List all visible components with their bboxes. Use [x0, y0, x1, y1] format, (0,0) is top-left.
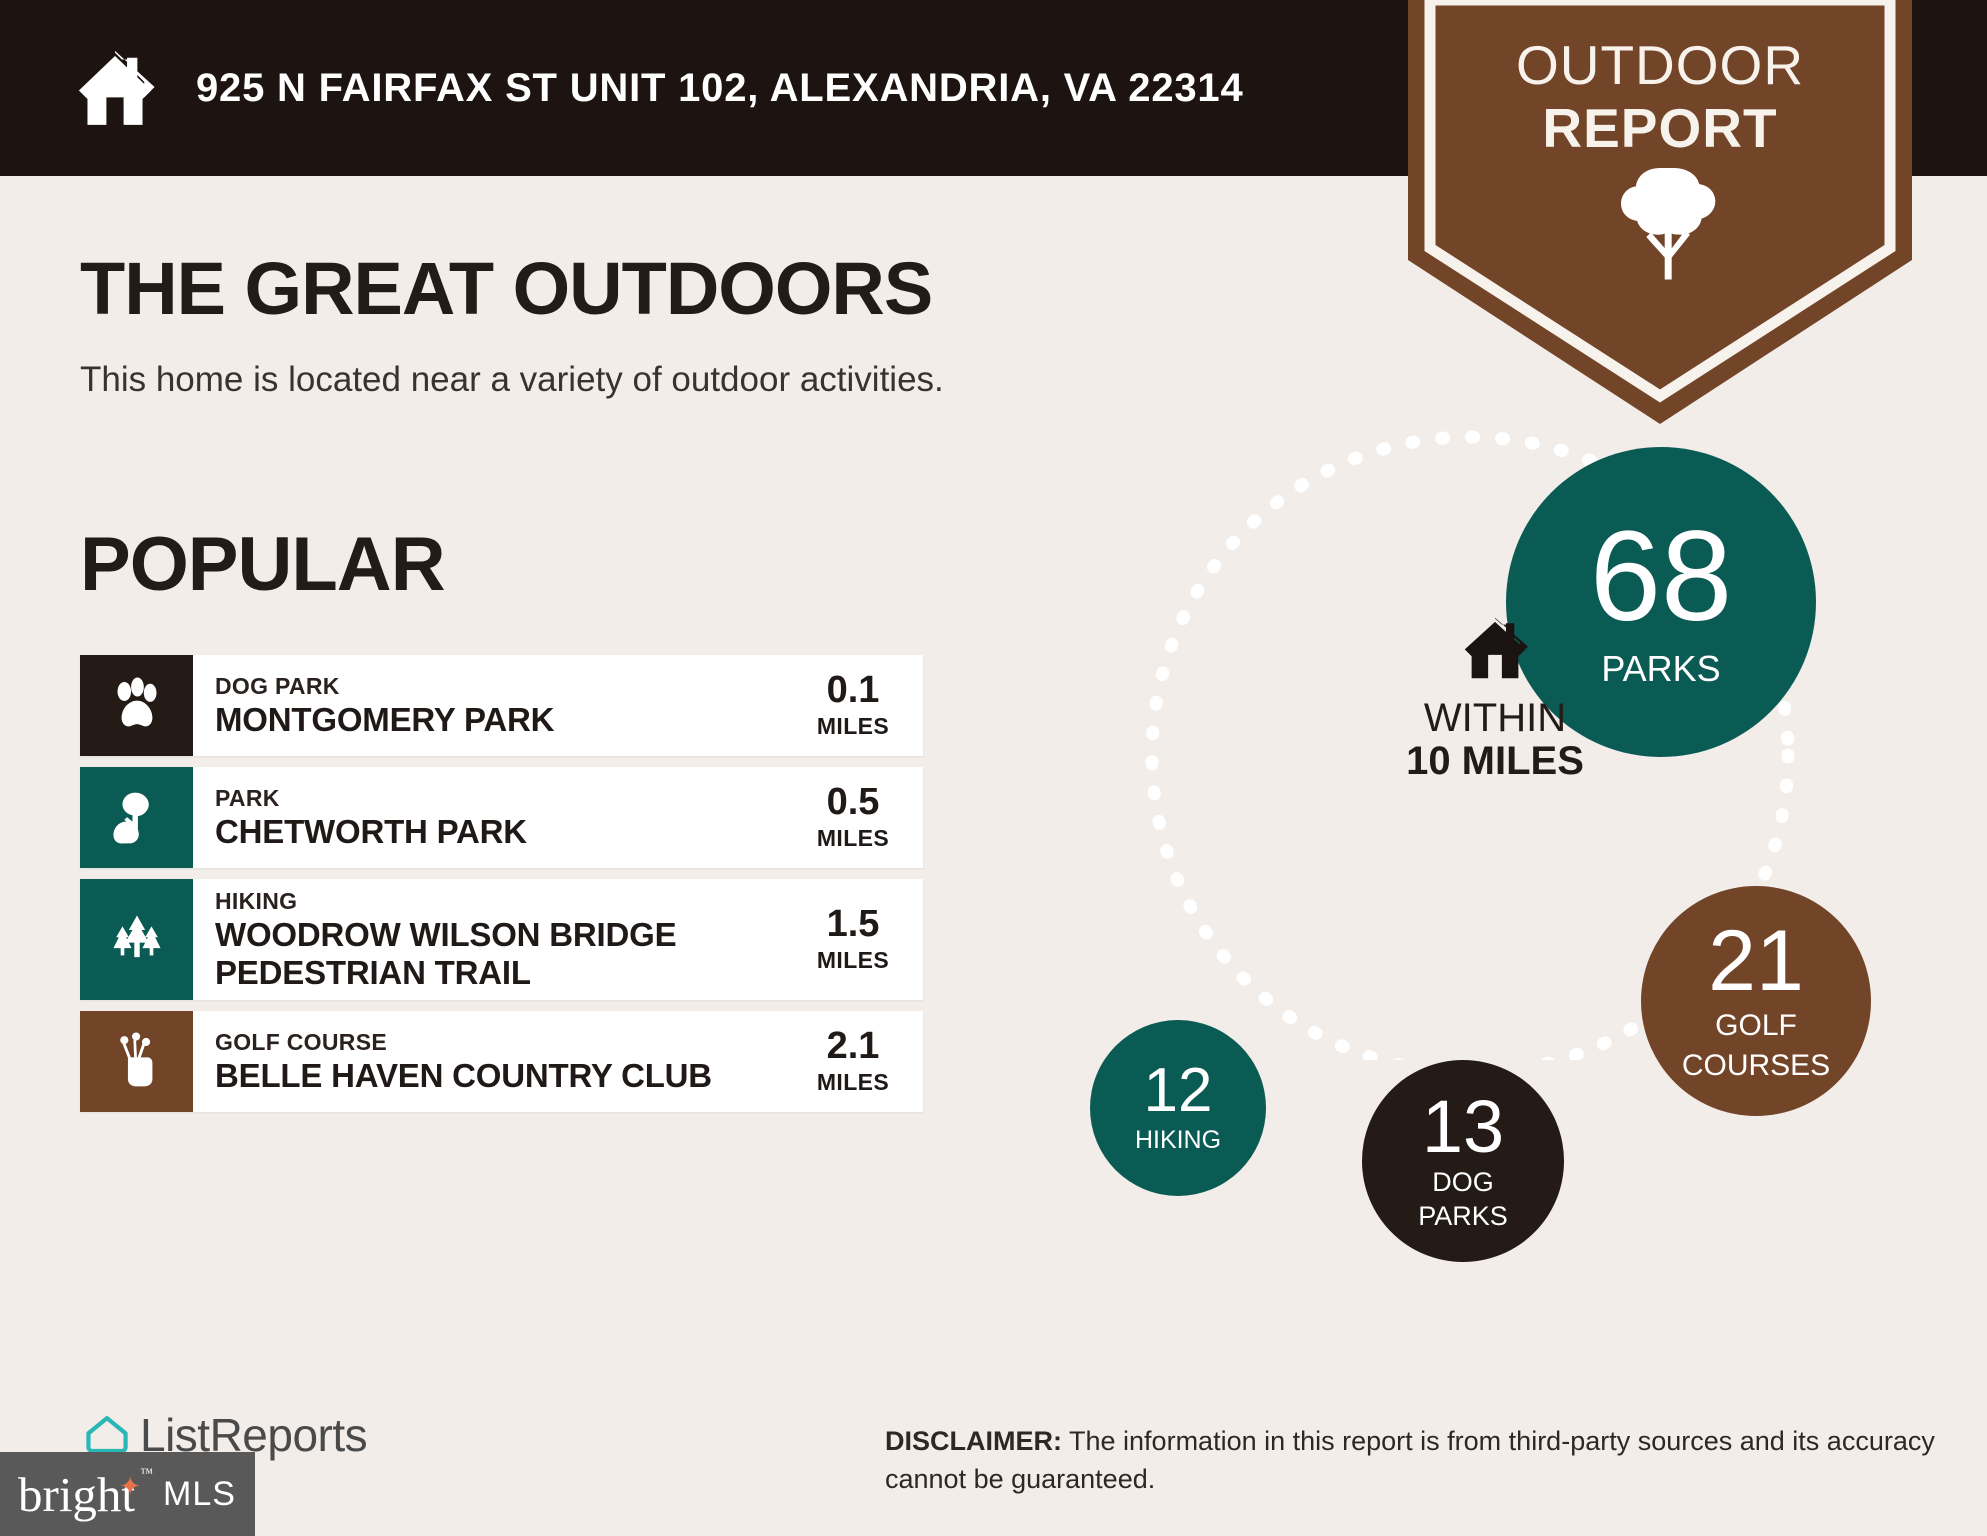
list-item[interactable]: HIKING WOODROW WILSON BRIDGE PEDESTRIAN …: [80, 879, 923, 1000]
list-item-distance-unit: MILES: [805, 713, 901, 740]
list-item-texts: HIKING WOODROW WILSON BRIDGE PEDESTRIAN …: [215, 887, 805, 992]
sparkle-icon: ✦: [119, 1474, 141, 1500]
list-item-category: DOG PARK: [215, 672, 805, 701]
list-item-distance-unit: MILES: [805, 825, 901, 852]
list-item[interactable]: PARK CHETWORTH PARK 0.5 MILES: [80, 767, 923, 868]
list-item-distance-unit: MILES: [805, 947, 901, 974]
home-icon: [1460, 615, 1530, 681]
list-item-body: GOLF COURSE BELLE HAVEN COUNTRY CLUB 2.1…: [193, 1011, 923, 1112]
diagram-center-group: WITHIN 10 MILES: [1335, 615, 1655, 783]
list-item-body: PARK CHETWORTH PARK 0.5 MILES: [193, 767, 923, 868]
page-subtitle: This home is located near a variety of o…: [80, 360, 944, 400]
bubble-dog-parks[interactable]: 13 DOG PARKS: [1362, 1060, 1564, 1262]
list-item[interactable]: GOLF COURSE BELLE HAVEN COUNTRY CLUB 2.1…: [80, 1011, 923, 1112]
list-item-name: CHETWORTH PARK: [215, 813, 805, 851]
list-item-category: PARK: [215, 784, 805, 813]
bright-mls-wordmark: bright ✦ ™: [18, 1470, 135, 1519]
list-item-icon-tile: [80, 767, 193, 868]
list-item-distance: 0.5 MILES: [805, 783, 923, 852]
list-item-body: DOG PARK MONTGOMERY PARK 0.1 MILES: [193, 655, 923, 756]
list-item-body: HIKING WOODROW WILSON BRIDGE PEDESTRIAN …: [193, 879, 923, 1000]
list-item-icon-tile: [80, 1011, 193, 1112]
list-item-distance: 2.1 MILES: [805, 1027, 923, 1096]
list-item-distance: 1.5 MILES: [805, 905, 923, 974]
list-item-distance-value: 0.1: [805, 671, 901, 709]
bubble-hiking-label: HIKING: [1135, 1127, 1221, 1153]
bubble-hiking[interactable]: 12 HIKING: [1090, 1020, 1266, 1196]
page-title: THE GREAT OUTDOORS: [80, 246, 932, 331]
golf-bag-icon: [108, 1032, 166, 1090]
list-item-icon-tile: [80, 655, 193, 756]
bubble-dog-parks-label-line1: DOG: [1432, 1168, 1494, 1196]
disclaimer: DISCLAIMER: The information in this repo…: [885, 1423, 1935, 1499]
list-item-texts: PARK CHETWORTH PARK: [215, 784, 805, 851]
list-item-distance-value: 0.5: [805, 783, 901, 821]
list-item-name: BELLE HAVEN COUNTRY CLUB: [215, 1057, 805, 1095]
bubble-golf-label-line2: COURSES: [1682, 1050, 1830, 1082]
bright-mls-logo: bright ✦ ™ MLS: [0, 1452, 255, 1536]
paw-icon: [108, 677, 166, 735]
list-item-category: GOLF COURSE: [215, 1028, 805, 1057]
bubble-golf-label-line1: GOLF: [1715, 1010, 1797, 1042]
list-item-icon-tile: [80, 879, 193, 1000]
list-item-texts: DOG PARK MONTGOMERY PARK: [215, 672, 805, 739]
list-item[interactable]: DOG PARK MONTGOMERY PARK 0.1 MILES: [80, 655, 923, 756]
popular-list: DOG PARK MONTGOMERY PARK 0.1 MILES PARK: [80, 655, 923, 1123]
bubble-golf-value: 21: [1708, 921, 1804, 1003]
outdoor-report-page: 925 N FAIRFAX ST UNIT 102, ALEXANDRIA, V…: [0, 0, 1987, 1536]
list-item-distance: 0.1 MILES: [805, 671, 923, 740]
bubble-golf-courses[interactable]: 21 GOLF COURSES: [1641, 886, 1871, 1116]
list-item-distance-unit: MILES: [805, 1069, 901, 1096]
disclaimer-label: DISCLAIMER:: [885, 1426, 1062, 1456]
list-item-name: MONTGOMERY PARK: [215, 701, 805, 739]
park-trees-icon: [108, 789, 166, 847]
amenities-bubble-diagram: 68 PARKS 21 GOLF COURSES 13 DOG PARKS 12…: [1040, 420, 1987, 1060]
trademark-icon: ™: [140, 1466, 153, 1479]
list-item-texts: GOLF COURSE BELLE HAVEN COUNTRY CLUB: [215, 1028, 805, 1095]
badge-shield-shape: [1408, 0, 1912, 424]
list-item-distance-value: 2.1: [805, 1027, 901, 1065]
bright-mls-mls-text: MLS: [163, 1475, 236, 1514]
home-icon: [72, 44, 158, 130]
list-item-category: HIKING: [215, 887, 805, 916]
popular-heading: POPULAR: [80, 521, 445, 608]
outdoor-report-badge: OUTDOOR REPORT: [1408, 0, 1912, 424]
diagram-center-line1: WITHIN: [1335, 697, 1655, 739]
list-item-distance-value: 1.5: [805, 905, 901, 943]
property-address: 925 N FAIRFAX ST UNIT 102, ALEXANDRIA, V…: [196, 66, 1244, 111]
list-item-name: WOODROW WILSON BRIDGE PEDESTRIAN TRAIL: [215, 916, 805, 992]
pine-trees-icon: [108, 910, 166, 968]
diagram-center-line2: 10 MILES: [1335, 739, 1655, 783]
bubble-dog-parks-value: 13: [1422, 1092, 1504, 1162]
bubble-dog-parks-label-line2: PARKS: [1418, 1202, 1508, 1230]
bright-mls-bright-text: bright: [18, 1467, 135, 1522]
bubble-hiking-value: 12: [1144, 1062, 1213, 1121]
